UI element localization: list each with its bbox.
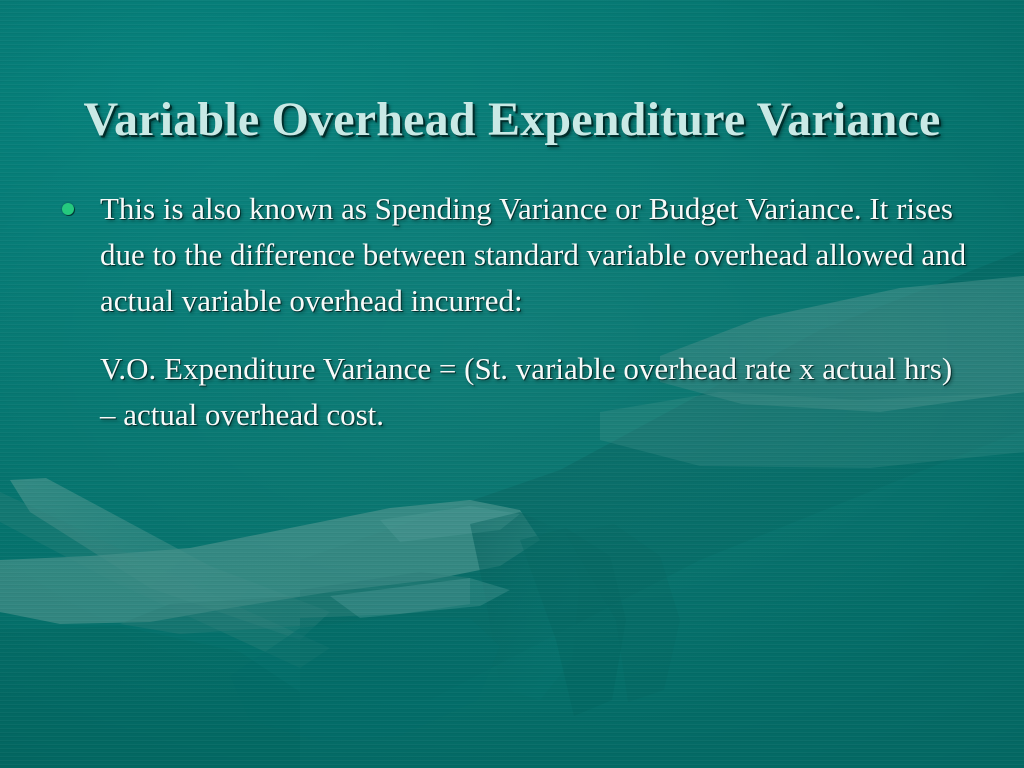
formula-item: V.O. Expenditure Variance = (St. variabl… [60,346,970,438]
bullet-item-text: This is also known as Spending Variance … [100,186,970,324]
bullet-item: This is also known as Spending Variance … [60,186,970,324]
presentation-slide: Variable Overhead Expenditure Variance T… [0,0,1024,768]
bullet-dot-icon [62,203,74,215]
slide-title: Variable Overhead Expenditure Variance [0,94,1024,146]
formula-item-text: V.O. Expenditure Variance = (St. variabl… [100,346,970,438]
slide-body: This is also known as Spending Variance … [60,186,970,438]
